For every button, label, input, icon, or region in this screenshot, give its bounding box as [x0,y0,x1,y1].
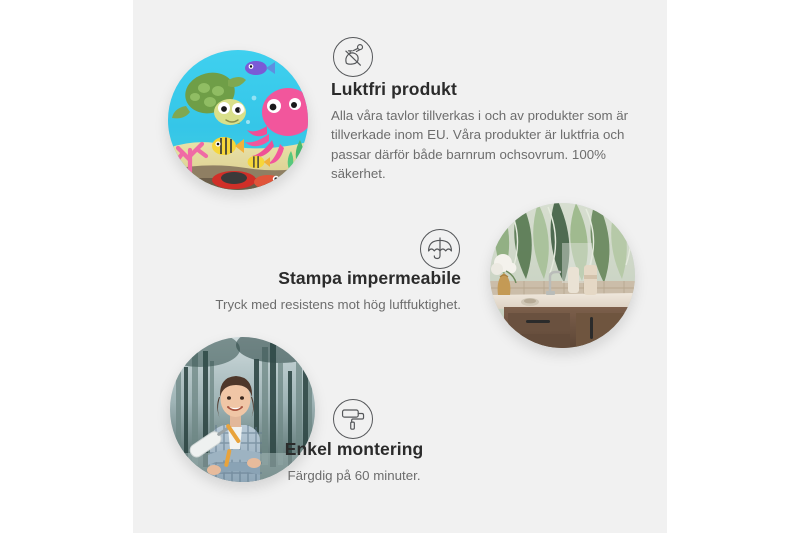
feature-body: Färgdig på 60 minuter. [243,466,465,486]
feature-title: Luktfri produkt [331,79,631,101]
feature-text-enkel-montering: Enkel montering Färgdig på 60 minuter. [243,439,465,485]
feature-text-stampa-impermeabile: Stampa impermeabile Tryck med resistens … [193,268,461,314]
no-odor-spray-bottle-icon [333,37,373,77]
feature-title: Stampa impermeabile [193,268,461,290]
bathroom-tropical-wallpaper-photo [490,203,635,348]
underwater-cartoon-scene-photo [168,50,308,190]
feature-body: Alla våra tavlor tillverkas i och av pro… [331,106,631,184]
infographic-page: Luktfri produkt Alla våra tavlor tillver… [0,0,800,533]
paint-roller-icon [333,399,373,439]
content-panel: Luktfri produkt Alla våra tavlor tillver… [133,0,667,533]
feature-text-luktfri-produkt: Luktfri produkt Alla våra tavlor tillver… [331,79,631,184]
umbrella-icon [420,229,460,269]
feature-title: Enkel montering [243,439,465,461]
feature-body: Tryck med resistens mot hög luftfuktighe… [193,295,461,315]
